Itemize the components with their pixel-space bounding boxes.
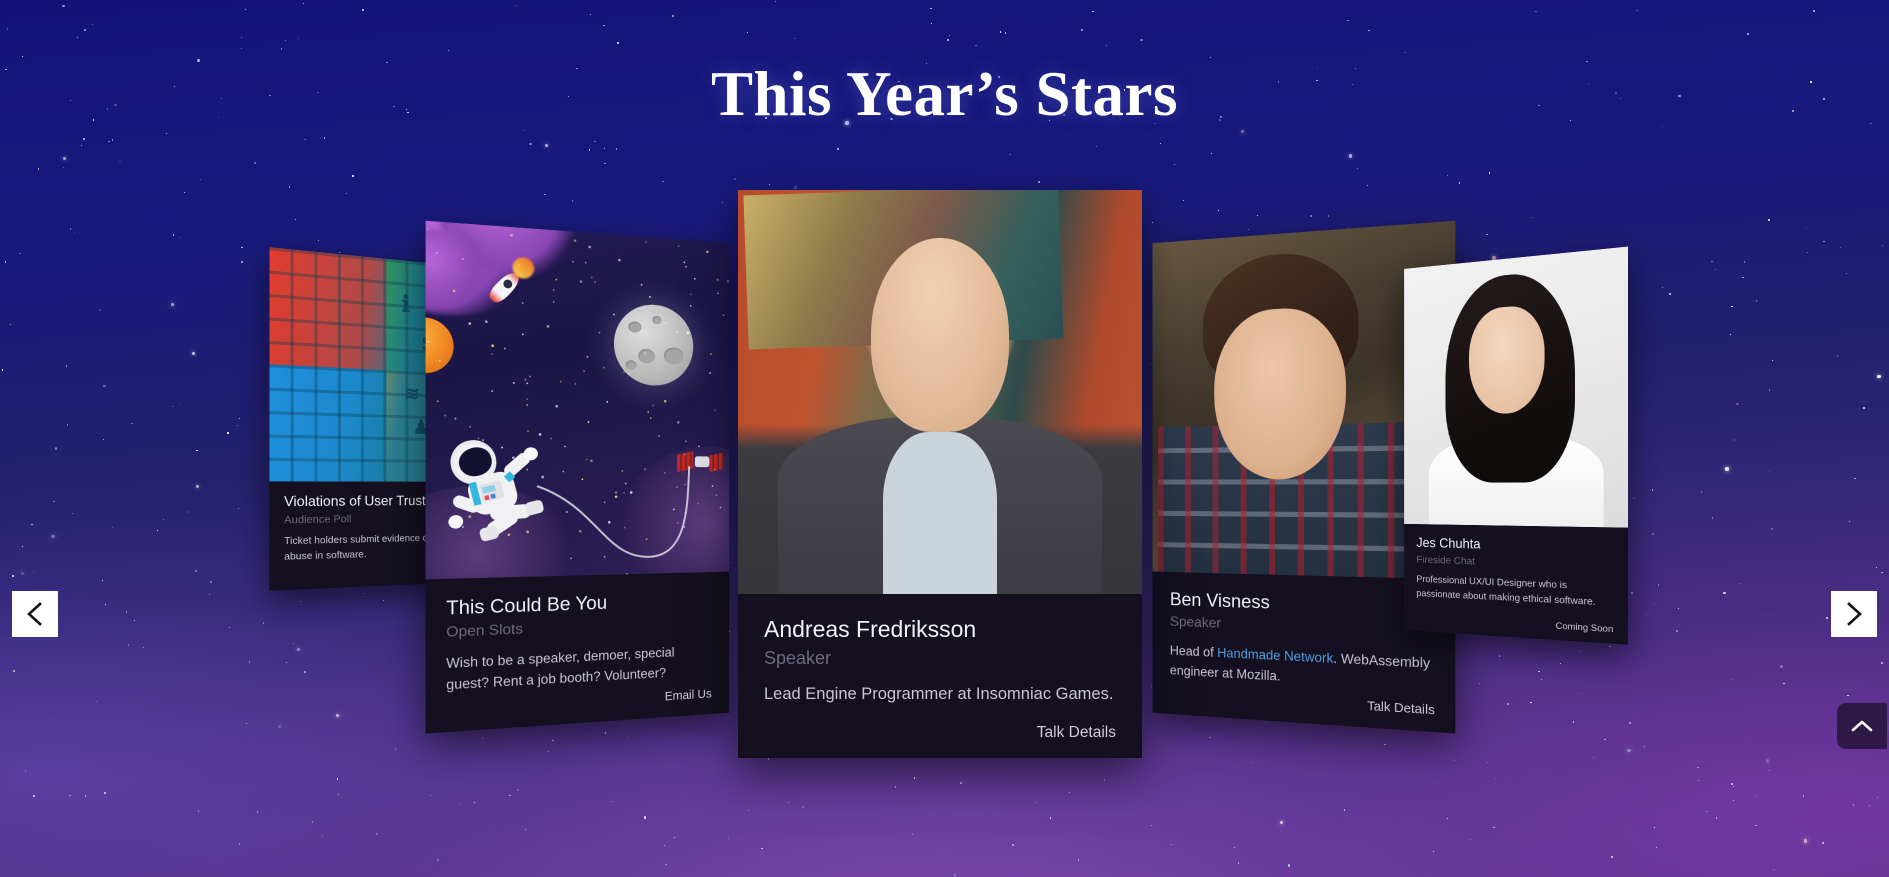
carousel-card-andreas-fredriksson[interactable]: Andreas Fredriksson Speaker Lead Engine …: [738, 190, 1142, 758]
card-artwork-portrait-jes: [1404, 247, 1628, 528]
handmade-network-link[interactable]: Handmade Network: [1217, 646, 1333, 666]
card-title: Andreas Fredriksson: [764, 616, 1116, 644]
carousel-card-this-could-be-you[interactable]: This Could Be You Open Slots Wish to be …: [426, 221, 730, 734]
card-cta[interactable]: Talk Details: [1367, 700, 1435, 718]
card-body: Andreas Fredriksson Speaker Lead Engine …: [738, 594, 1142, 758]
speaker-carousel[interactable]: ℹ S ▣ ▤ f ◉ G ≋ ♟ ▥ ✉ Violations of User…: [0, 190, 1889, 850]
card-role: Fireside Chat: [1416, 553, 1613, 572]
card-description: Wish to be a speaker, demoer, special gu…: [446, 641, 711, 696]
card-body: This Could Be You Open Slots Wish to be …: [426, 572, 730, 734]
card-description-prefix: Head of: [1170, 644, 1217, 660]
chevron-right-icon: [1843, 601, 1865, 627]
card-description: Head of Handmade Network. WebAssembly en…: [1170, 641, 1435, 696]
chevron-up-icon: [1850, 718, 1874, 734]
card-description: Professional UX/UI Designer who is passi…: [1416, 572, 1613, 610]
card-artwork-astronaut-space: [426, 221, 730, 580]
carousel-card-jes-chuhta[interactable]: Jes Chuhta Fireside Chat Professional UX…: [1404, 247, 1628, 645]
page-root: This Year’s Stars ℹ S ▣ ▤ f ◉ G ≋ ♟ ▥: [0, 0, 1889, 877]
scroll-to-top-button[interactable]: [1837, 703, 1887, 749]
chevron-left-icon: [24, 601, 46, 627]
card-role: Speaker: [764, 647, 1116, 670]
card-artwork-portrait-andreas: [738, 190, 1142, 594]
card-description: Lead Engine Programmer at Insomniac Game…: [764, 682, 1116, 708]
carousel-prev-button[interactable]: [12, 591, 58, 637]
card-cta[interactable]: Email Us: [665, 688, 712, 704]
card-body: Jes Chuhta Fireside Chat Professional UX…: [1404, 524, 1628, 645]
carousel-next-button[interactable]: [1831, 591, 1877, 637]
card-cta[interactable]: Coming Soon: [1556, 620, 1614, 634]
page-title: This Year’s Stars: [0, 58, 1889, 130]
card-cta[interactable]: Talk Details: [1037, 724, 1116, 742]
